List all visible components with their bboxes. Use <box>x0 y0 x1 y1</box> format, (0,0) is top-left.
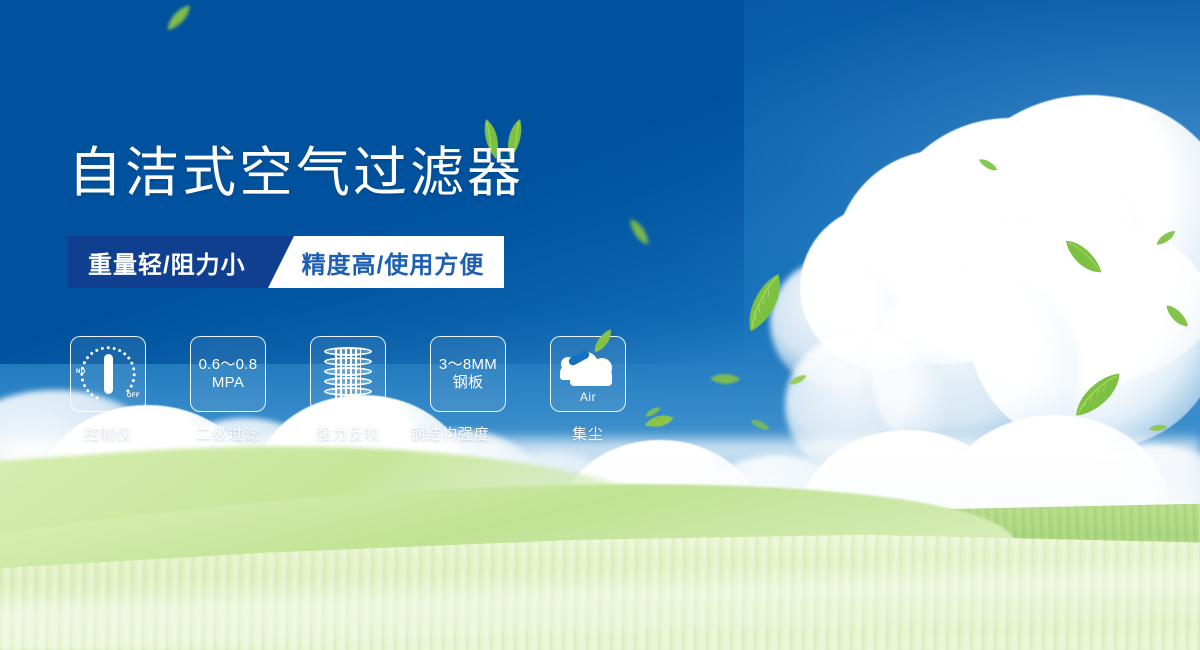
subtitle-band: 重量轻/阻力小 精度高/使用方便 <box>68 236 504 288</box>
subtitle-left: 重量轻/阻力小 <box>68 236 268 288</box>
feature-item-steel[interactable]: 3～8MM 钢板 钢结构强度 <box>430 336 506 444</box>
feature-label: 集尘 <box>550 423 626 444</box>
gauge-indicator <box>104 354 113 394</box>
feature-item-dust[interactable]: Air 集尘 <box>550 336 626 444</box>
feature-item-control[interactable]: NO OFF 控制仪 <box>70 336 146 444</box>
feature-label: 钢结构强度 <box>410 423 486 444</box>
gauge-label-no: NO <box>76 369 86 375</box>
feature-icon-box: 3～8MM 钢板 <box>430 336 506 412</box>
gauge-label-off: OFF <box>127 393 140 399</box>
feature-item-pressure[interactable]: 0.6～0.8 MPA 二级过滤 <box>190 336 266 444</box>
air-label: Air <box>556 390 620 404</box>
pressure-icon: 0.6～0.8 MPA <box>199 356 258 391</box>
cloud-air-icon: Air <box>556 346 620 402</box>
pressure-value: 0.6～0.8 <box>199 356 258 373</box>
page-title: 自洁式空气过滤器 <box>68 146 524 200</box>
subtitle-right: 精度高/使用方便 <box>294 236 505 288</box>
floating-leaf-icon <box>644 414 671 427</box>
subtitle-divider <box>268 236 294 288</box>
steel-material: 钢板 <box>439 374 497 392</box>
feature-label: 强力反吹 <box>310 423 386 444</box>
grass-field <box>0 420 1200 650</box>
feature-icon-box <box>310 336 386 412</box>
feature-icon-box: 0.6～0.8 MPA <box>190 336 266 412</box>
hero-banner: 自洁式空气过滤器 重量轻/阻力小 精度高/使用方便 <box>0 0 1200 650</box>
feature-label: 二级过滤 <box>190 423 266 444</box>
feature-label: 控制仪 <box>70 423 146 444</box>
pressure-unit: MPA <box>199 374 258 392</box>
feature-icon-box: NO OFF <box>70 336 146 412</box>
gauge-icon: NO OFF <box>77 343 139 405</box>
coil-filter-icon <box>320 345 376 403</box>
steel-plate-icon: 3～8MM 钢板 <box>439 356 497 391</box>
steel-thickness: 3～8MM <box>439 356 497 373</box>
feature-list: NO OFF 控制仪 0.6～0.8 MPA 二级过滤 <box>70 336 626 444</box>
feature-item-blowback[interactable]: 强力反吹 <box>310 336 386 444</box>
feature-icon-box: Air <box>550 336 626 412</box>
